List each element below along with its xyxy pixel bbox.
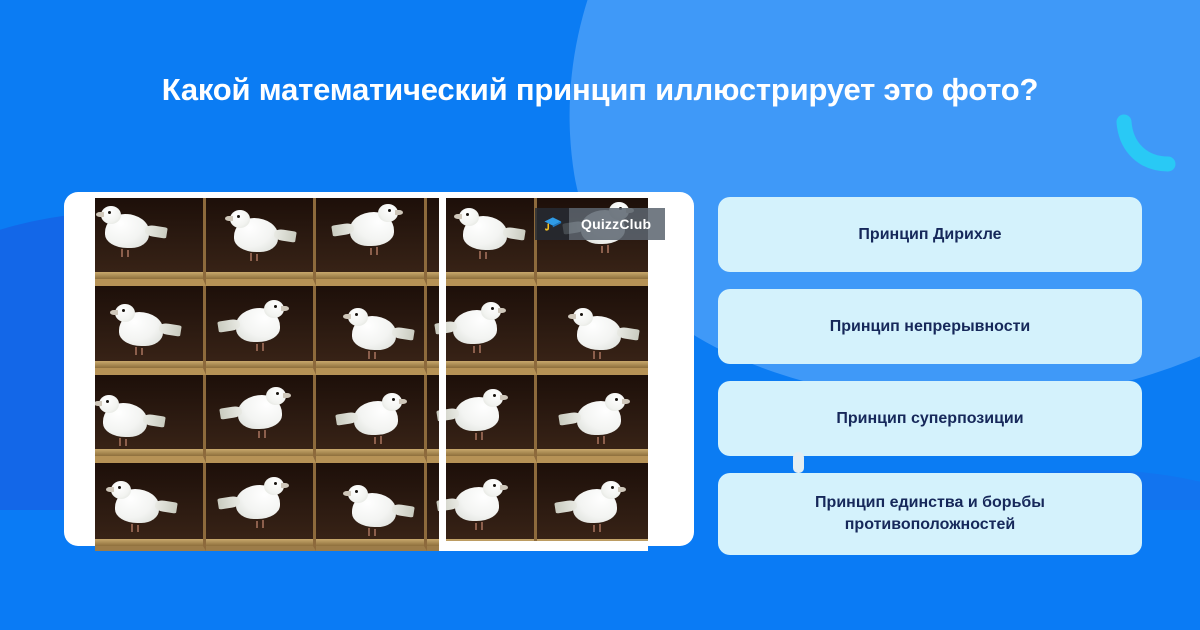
pigeonhole-cell xyxy=(316,286,427,374)
pigeonhole-cell xyxy=(537,286,648,374)
dove xyxy=(228,210,288,256)
scroll-nub xyxy=(793,452,804,473)
watermark-brand-label: QuizzClub xyxy=(569,208,665,240)
dove xyxy=(226,300,286,346)
pigeonhole-cell xyxy=(206,463,317,551)
pigeonhole-cell xyxy=(206,375,317,463)
watermark-badge: QuizzClub xyxy=(535,208,665,240)
question-image-card xyxy=(64,192,694,546)
photo-seam-bottom xyxy=(439,541,648,551)
dove xyxy=(445,389,505,435)
swoosh-arc-icon xyxy=(1116,114,1178,174)
pigeonhole-cell xyxy=(316,198,427,286)
pigeonhole-grid xyxy=(95,198,648,551)
dove xyxy=(344,393,404,439)
photo-seam xyxy=(439,198,446,551)
pigeonhole-cell xyxy=(95,198,206,286)
pigeonhole-cell xyxy=(537,375,648,463)
answer-option-2[interactable]: Принцип непрерывности xyxy=(718,289,1142,364)
quiz-card: Какой математический принцип иллюстрируе… xyxy=(0,0,1200,630)
pigeonhole-cell xyxy=(206,286,317,374)
dove xyxy=(113,304,173,350)
dove xyxy=(563,481,623,527)
pigeon-coop-photo xyxy=(95,198,648,551)
pigeonhole-cell xyxy=(316,375,427,463)
graduation-cap-icon xyxy=(535,208,569,240)
answer-option-4[interactable]: Принцип единства и борьбы противоположно… xyxy=(718,473,1142,555)
dove xyxy=(445,479,505,525)
dove xyxy=(443,302,503,348)
dove xyxy=(109,481,169,527)
pigeonhole-cell xyxy=(95,375,206,463)
dove xyxy=(228,387,288,433)
answer-options-list: Принцип Дирихле Принцип непрерывности Пр… xyxy=(718,197,1142,572)
dove xyxy=(340,204,400,250)
dove xyxy=(99,206,159,252)
dove xyxy=(571,308,631,354)
answer-option-1[interactable]: Принцип Дирихле xyxy=(718,197,1142,272)
dove xyxy=(346,308,406,354)
pigeonhole-cell xyxy=(537,463,648,551)
dove xyxy=(226,477,286,523)
pigeonhole-cell xyxy=(316,463,427,551)
dove xyxy=(346,485,406,531)
pigeonhole-cell xyxy=(206,198,317,286)
pigeonhole-cell xyxy=(95,286,206,374)
dove xyxy=(97,395,157,441)
dove xyxy=(457,208,517,254)
pigeonhole-cell xyxy=(95,463,206,551)
page-title: Какой математический принцип иллюстрируе… xyxy=(0,70,1200,110)
dove xyxy=(567,393,627,439)
answer-option-3[interactable]: Принцип суперпозиции xyxy=(718,381,1142,456)
